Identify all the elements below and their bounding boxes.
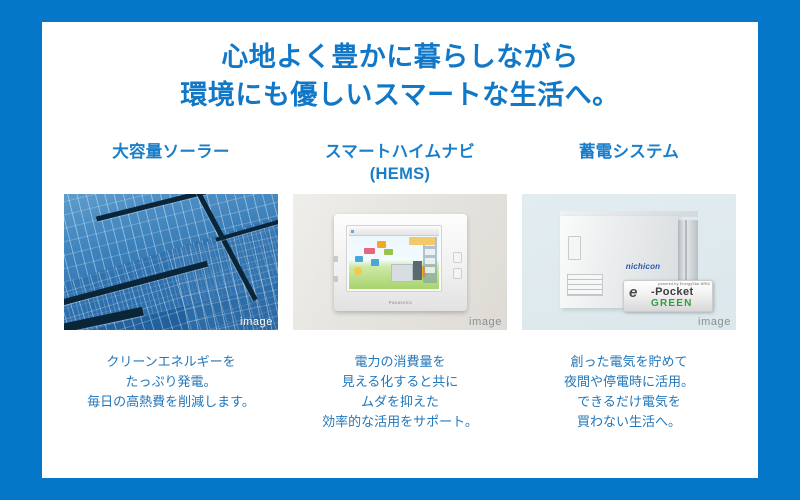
caption-hems-line-1: 電力の消費量を [289,352,511,372]
hems-button-2[interactable] [453,268,462,279]
badge-pocket-text: -Pocket [651,287,694,298]
hems-tag-yellow-sun [354,267,362,275]
column-title-hems: スマートハイムナビ (HEMS) [325,142,475,190]
hems-button-1[interactable] [453,252,462,263]
e-pocket-green-badge: powered by EnergyStar BRID e -Pocket GRE… [623,280,713,312]
hems-dashboard-screen [349,228,439,289]
caption-solar-line-3: 毎日の高熱費を削減します。 [60,392,282,412]
caption-battery-line-2: 夜間や停電時に活用。 [518,372,740,392]
feature-column-battery: 蓄電システム nichicon powered by EnergyStar BR… [518,142,740,330]
slide-frame: 心地よく豊かに暮らしながら 環境にも優しいスマートな生活へ。 大容量ソーラー [0,0,800,500]
hems-screen-bezel [346,225,442,292]
battery-latch [568,236,581,260]
hems-screen-topbar [349,228,439,236]
solar-panel-photo: image [64,194,278,330]
image-watermark-battery: image [698,316,731,328]
caption-solar-line-1: クリーンエネルギーを [60,352,282,372]
hems-tag-blue-2 [371,259,379,266]
headline-line-1: 心地よく豊かに暮らしながら [221,42,579,72]
caption-hems-line-4: 効率的な活用をサポート。 [289,412,511,432]
image-watermark-hems: image [469,316,502,328]
column-title-hems-sub: (HEMS) [325,164,475,186]
hems-tag-blue-1 [355,256,363,262]
caption-battery-line-4: 買わない生活へ。 [518,412,740,432]
feature-captions: クリーンエネルギーを たっぷり発電。 毎日の高熱費を削減します。 電力の消費量を… [42,352,758,433]
feature-column-solar: 大容量ソーラー image [60,142,282,330]
hems-side-button-top [333,256,338,262]
badge-green-text: GREEN [651,299,693,309]
column-title-solar: 大容量ソーラー [112,142,230,190]
caption-solar-line-2: たっぷり発電。 [60,372,282,392]
caption-battery-line-3: できるだけ電気を [518,392,740,412]
caption-solar: クリーンエネルギーを たっぷり発電。 毎日の高熱費を削減します。 [60,352,282,433]
column-title-hems-main: スマートハイムナビ [325,143,475,161]
caption-hems-line-3: ムダを抑えた [289,392,511,412]
feature-column-hems: スマートハイムナビ (HEMS) [289,142,511,330]
slide-card: 心地よく豊かに暮らしながら 環境にも優しいスマートな生活へ。 大容量ソーラー [42,22,758,478]
image-watermark-solar: image [240,316,273,328]
caption-hems: 電力の消費量を 見える化すると共に ムダを抑えた 効率的な活用をサポート。 [289,352,511,433]
page-title: 心地よく豊かに暮らしながら 環境にも優しいスマートな生活へ。 [42,38,758,115]
hems-tag-green [384,249,393,255]
column-title-solar-main: 大容量ソーラー [112,143,230,161]
battery-unit-photo: nichicon powered by EnergyStar BRID e -P… [522,194,736,330]
hems-device-body: Panasonic [334,214,467,311]
column-title-battery-main: 蓄電システム [579,143,679,161]
hems-device-brand: Panasonic [334,300,467,305]
battery-spec-label [567,274,603,296]
hems-tablet-photo: Panasonic image [293,194,507,330]
nichicon-logo: nichicon [612,262,674,271]
caption-battery: 創った電気を貯めて 夜間や停電時に活用。 できるだけ電気を 買わない生活へ。 [518,352,740,433]
caption-battery-line-1: 創った電気を貯めて [518,352,740,372]
column-title-battery: 蓄電システム [579,142,679,190]
hems-tag-orange-1 [377,241,386,248]
hems-side-button-bottom [333,276,338,282]
hems-tag-pink [364,248,375,254]
feature-columns: 大容量ソーラー image スマートハイムナビ [42,142,758,330]
hems-house-icon [391,264,413,282]
badge-e-letter: e [629,285,637,300]
hems-status-banner [409,237,435,245]
headline-line-2: 環境にも優しいスマートな生活へ。 [42,76,758,114]
hems-door-icon [413,261,422,280]
caption-hems-line-2: 見える化すると共に [289,372,511,392]
